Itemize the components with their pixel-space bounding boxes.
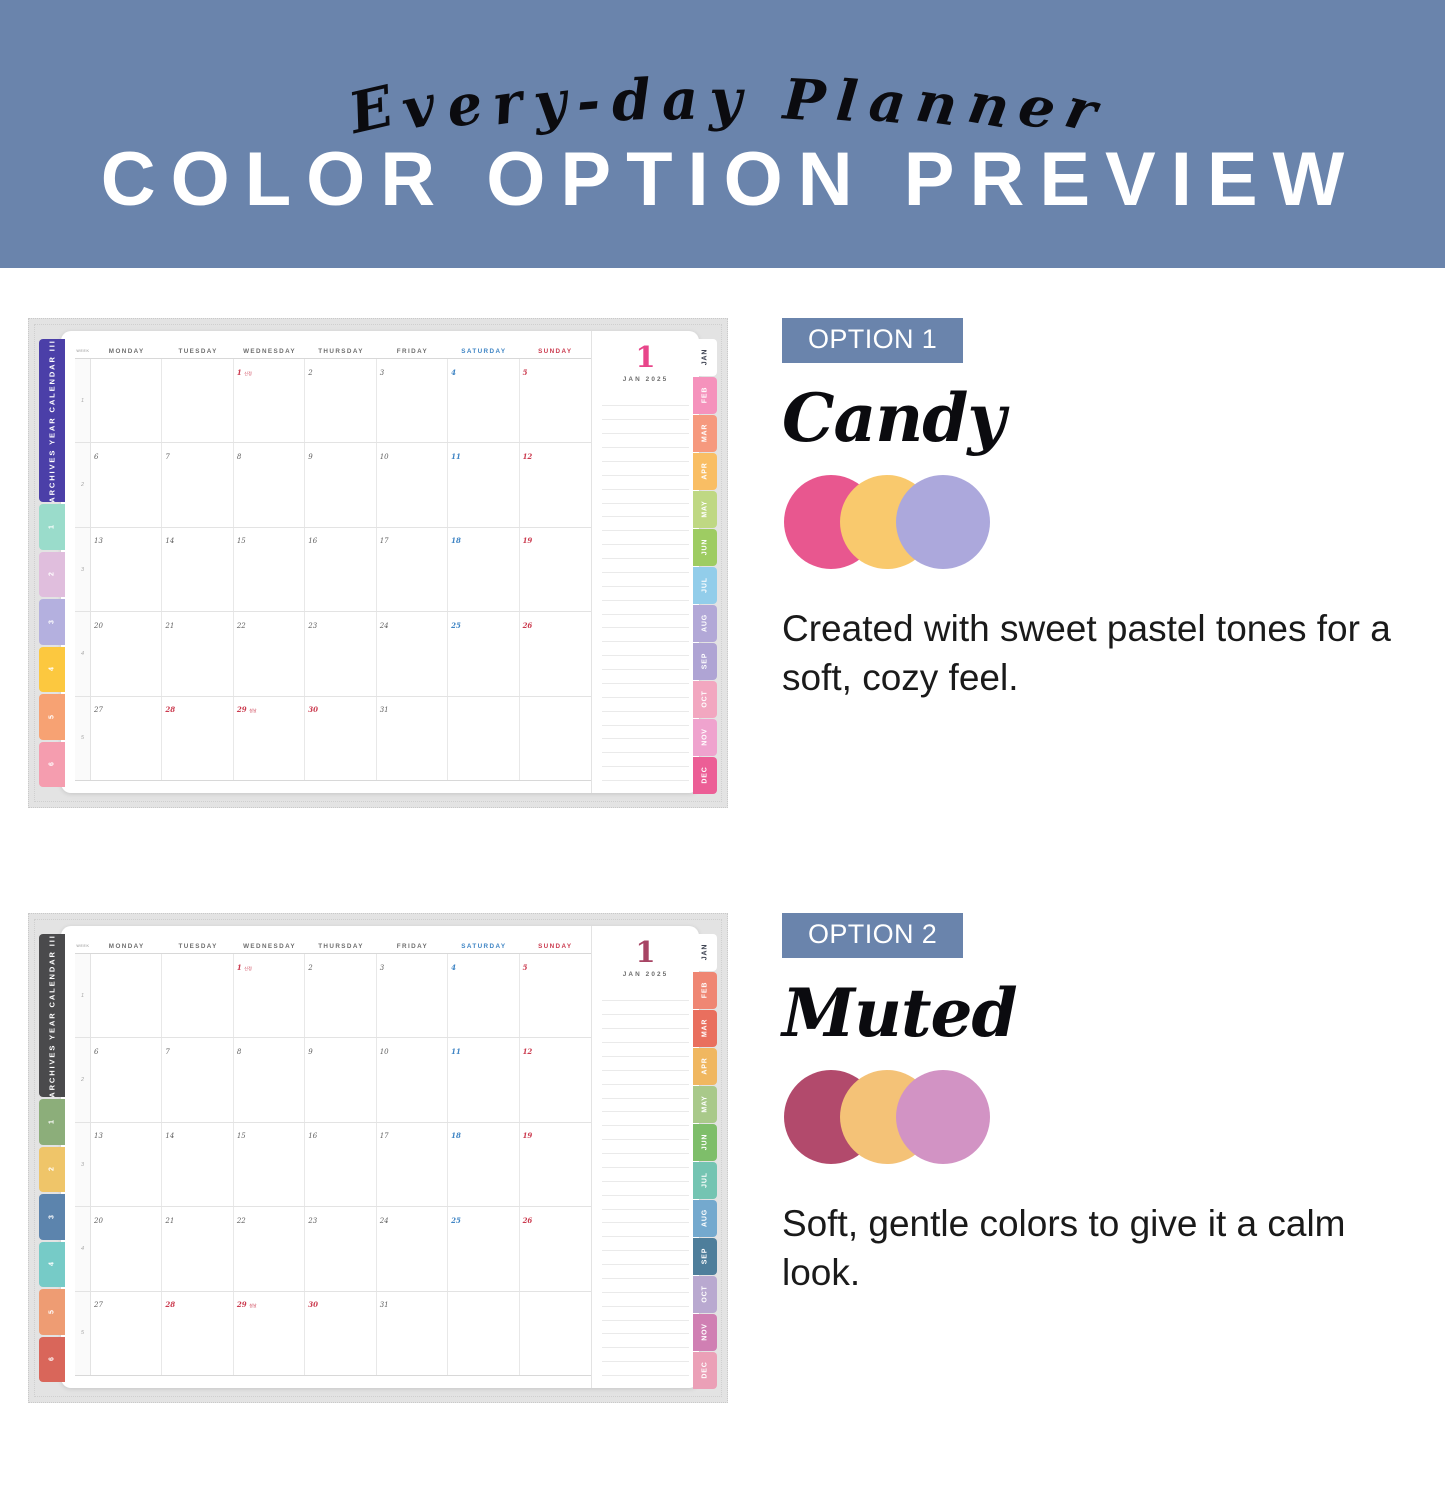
note-line[interactable] [602, 1168, 689, 1182]
script-title-char: a [866, 73, 908, 133]
calendar-day-cell[interactable]: 21 [162, 1207, 233, 1290]
note-line[interactable] [602, 1251, 689, 1265]
left-tab-6[interactable]: 6 [39, 742, 65, 788]
day-number: 5 [523, 963, 528, 972]
script-title-char: l [834, 73, 860, 131]
color-swatches-2 [784, 1070, 1412, 1170]
note-line[interactable] [602, 420, 689, 434]
note-line[interactable] [602, 476, 689, 490]
day-number: 21 [165, 622, 174, 630]
calendar-day-cell[interactable]: 22 [234, 1207, 305, 1290]
calendar-day-cell[interactable]: 24 [377, 1207, 448, 1290]
calendar-day-cell[interactable]: 24 [377, 612, 448, 695]
calendar-day-cell[interactable]: 17 [377, 1123, 448, 1206]
calendar-day-cell[interactable]: 9 [305, 443, 376, 526]
script-title-char: d [610, 72, 652, 130]
day-number: 6 [94, 453, 98, 461]
note-line[interactable] [602, 1210, 689, 1224]
week-number: 4 [75, 1207, 91, 1290]
week-number: 2 [75, 443, 91, 526]
calendar-day-cell[interactable] [520, 1292, 591, 1375]
calendar-day-cell[interactable]: 10 [377, 1038, 448, 1121]
holiday-note: 신정 [244, 966, 252, 971]
month-tab-sep[interactable]: SEP [693, 643, 717, 680]
week-column-label: WEEK [75, 944, 91, 948]
note-line[interactable] [602, 1265, 689, 1279]
calendar-day-cell[interactable]: 26 [520, 1207, 591, 1290]
left-tab-2[interactable]: 2 [39, 1147, 65, 1193]
month-tab-oct[interactable]: OCT [693, 1276, 717, 1313]
week-number: 5 [75, 697, 91, 780]
day-number: 28 [165, 1300, 175, 1309]
calendar-day-cell[interactable]: 6 [91, 1038, 162, 1121]
note-line[interactable] [602, 1001, 689, 1015]
calendar-day-cell[interactable]: 25 [448, 612, 519, 695]
note-line[interactable] [602, 1015, 689, 1029]
note-line[interactable] [602, 1237, 689, 1251]
note-line[interactable] [602, 504, 689, 518]
note-line[interactable] [602, 1334, 689, 1348]
day-number: 15 [237, 537, 246, 545]
calendar-header-row: WEEKMONDAYTUESDAYWEDNESDAYTHURSDAYFRIDAY… [75, 344, 591, 359]
holiday-note: 설날 [249, 708, 257, 713]
left-tab-label: 5 [49, 1310, 56, 1314]
note-line[interactable] [602, 601, 689, 615]
left-tab-4[interactable]: 4 [39, 1242, 65, 1288]
month-tab-label: MAR [702, 424, 709, 442]
note-line[interactable] [602, 1043, 689, 1057]
left-tab-2[interactable]: 2 [39, 552, 65, 598]
month-tab-dec[interactable]: DEC [693, 757, 717, 794]
calendar-day-cell[interactable]: 19 [520, 528, 591, 611]
calendar-day-cell[interactable] [448, 697, 519, 780]
script-title-char: - [575, 73, 603, 131]
option-name: Muted [782, 980, 1412, 1046]
note-line[interactable] [602, 545, 689, 559]
month-tab-aug[interactable]: AUG [693, 1200, 717, 1237]
left-tab-3[interactable]: 3 [39, 599, 65, 645]
color-swatches-1 [784, 475, 1412, 575]
note-line[interactable] [602, 559, 689, 573]
note-line[interactable] [602, 1321, 689, 1335]
calendar-day-cell[interactable]: 25 [448, 1207, 519, 1290]
day-number: 4 [451, 368, 456, 377]
calendar-day-cell[interactable]: 18 [448, 1123, 519, 1206]
calendar-day-cell[interactable]: 15 [234, 1123, 305, 1206]
calendar-day-cell[interactable]: 11 [448, 443, 519, 526]
day-number: 20 [94, 1217, 103, 1225]
calendar-day-cell[interactable] [448, 1292, 519, 1375]
calendar-day-cell[interactable]: 31 [377, 1292, 448, 1375]
note-line[interactable] [602, 1182, 689, 1196]
day-number: 11 [451, 1047, 461, 1056]
month-tab-mar[interactable]: MAR [693, 1010, 717, 1047]
day-number: 3 [380, 964, 384, 972]
day-header-sunday: SUNDAY [520, 348, 591, 355]
day-number: 19 [523, 1131, 533, 1140]
script-title-char: n [913, 73, 961, 134]
left-tab-1[interactable]: 1 [39, 1099, 65, 1145]
note-line[interactable] [602, 656, 689, 670]
day-header-sunday: SUNDAY [520, 943, 591, 950]
day-number: 22 [237, 622, 246, 630]
note-line[interactable] [602, 642, 689, 656]
left-tab-5[interactable]: 5 [39, 1289, 65, 1335]
calendar-day-cell[interactable]: 2 [305, 359, 376, 442]
month-tab-nov[interactable]: NOV [693, 719, 717, 756]
calendar-day-cell[interactable]: 8 [234, 1038, 305, 1121]
month-year-label: JAN 2025 [602, 376, 689, 383]
day-number: 23 [308, 1217, 317, 1225]
note-line[interactable] [602, 1126, 689, 1140]
calendar-day-cell[interactable]: 17 [377, 528, 448, 611]
option-name: Candy [782, 385, 1412, 451]
month-tab-dec[interactable]: DEC [693, 1352, 717, 1389]
calendar-day-cell[interactable]: 26 [520, 612, 591, 695]
left-tab-5[interactable]: 5 [39, 694, 65, 740]
script-title-char: P [782, 71, 827, 129]
month-tab-feb[interactable]: FEB [693, 377, 717, 414]
calendar-day-cell[interactable]: 27 [91, 1292, 162, 1375]
script-title-char: n [964, 75, 1014, 137]
calendar-day-cell[interactable]: 5 [520, 954, 591, 1037]
day-number: 1 [237, 368, 242, 377]
calendar-day-cell[interactable]: 12 [520, 443, 591, 526]
calendar-day-cell[interactable]: 7 [162, 443, 233, 526]
note-line[interactable] [602, 1307, 689, 1321]
note-line[interactable] [602, 462, 689, 476]
note-line[interactable] [602, 1029, 689, 1043]
swatch-circle-3 [896, 475, 990, 569]
month-tab-label: APR [702, 463, 709, 480]
note-line[interactable] [602, 615, 689, 629]
note-line[interactable] [602, 1057, 689, 1071]
left-tab-1[interactable]: 1 [39, 504, 65, 550]
day-number: 18 [451, 1131, 461, 1140]
week-number: 4 [75, 612, 91, 695]
option-block-1: ARCHIVES YEAR CALENDAR III 1 2 3 4 5 6 W… [0, 300, 1445, 900]
calendar-day-cell[interactable]: 4 [448, 954, 519, 1037]
left-tab-label: 3 [49, 620, 56, 624]
month-tab-feb[interactable]: FEB [693, 972, 717, 1009]
calendar-body: 11신정234526789101112313141516171819420212… [75, 954, 591, 1376]
calendar-day-cell[interactable]: 4 [448, 359, 519, 442]
day-number: 25 [451, 1216, 461, 1225]
calendar-day-cell[interactable]: 6 [91, 443, 162, 526]
calendar-day-cell[interactable]: 20 [91, 612, 162, 695]
calendar-day-cell[interactable]: 19 [520, 1123, 591, 1206]
day-number: 26 [523, 621, 533, 630]
calendar-day-cell[interactable]: 3 [377, 954, 448, 1037]
month-tab-label: SEP [702, 1248, 709, 1264]
script-title-char: e [1015, 77, 1061, 139]
month-tab-label: AUG [702, 1209, 709, 1227]
calendar-day-cell[interactable]: 7 [162, 1038, 233, 1121]
calendar-day-cell[interactable]: 2 [305, 954, 376, 1037]
calendar-week-row: 313141516171819 [75, 1123, 591, 1207]
planner-preview-1[interactable]: ARCHIVES YEAR CALENDAR III 1 2 3 4 5 6 W… [28, 318, 728, 808]
calendar-day-cell[interactable]: 31 [377, 697, 448, 780]
note-line[interactable] [602, 712, 689, 726]
day-header-wednesday: WEDNESDAY [234, 943, 305, 950]
note-line[interactable] [602, 448, 689, 462]
calendar-day-cell[interactable]: 1신정 [234, 359, 305, 442]
calendar-day-cell[interactable]: 13 [91, 1123, 162, 1206]
month-tab-jan[interactable]: JAN [693, 934, 717, 971]
calendar-day-cell[interactable]: 13 [91, 528, 162, 611]
day-number: 28 [165, 705, 175, 714]
note-line[interactable] [602, 1348, 689, 1362]
script-title-char [752, 72, 773, 129]
calendar-day-cell[interactable] [91, 359, 162, 442]
note-line[interactable] [602, 490, 689, 504]
month-tab-may[interactable]: MAY [693, 1086, 717, 1123]
month-tab-label: NOV [702, 1323, 709, 1341]
calendar-day-cell[interactable] [91, 954, 162, 1037]
calendar-day-cell[interactable]: 28 [162, 1292, 233, 1375]
notes-column-1: 1 JAN 2025 [591, 331, 699, 793]
calendar-day-cell[interactable] [520, 697, 591, 780]
note-lines[interactable] [602, 988, 689, 1376]
note-line[interactable] [602, 1293, 689, 1307]
left-tab-label: 4 [49, 1262, 56, 1266]
month-tab-nov[interactable]: NOV [693, 1314, 717, 1351]
day-number: 10 [380, 1048, 389, 1056]
calendar-day-cell[interactable]: 14 [162, 528, 233, 611]
month-tab-jan[interactable]: JAN [693, 339, 717, 376]
note-line[interactable] [602, 988, 689, 1002]
calendar-day-cell[interactable]: 20 [91, 1207, 162, 1290]
calendar-day-cell[interactable]: 5 [520, 359, 591, 442]
month-calendar-2: WEEKMONDAYTUESDAYWEDNESDAYTHURSDAYFRIDAY… [61, 926, 591, 1388]
note-line[interactable] [602, 1223, 689, 1237]
note-line[interactable] [602, 698, 689, 712]
planner-page-1: WEEKMONDAYTUESDAYWEDNESDAYTHURSDAYFRIDAY… [61, 331, 699, 793]
week-number: 1 [75, 359, 91, 442]
notes-column-2: 1 JAN 2025 [591, 926, 699, 1388]
month-tab-label: FEB [702, 982, 709, 998]
note-line[interactable] [602, 1085, 689, 1099]
calendar-day-cell[interactable]: 23 [305, 1207, 376, 1290]
month-tab-label: JAN [702, 944, 709, 960]
calendar-day-cell[interactable]: 29설날 [234, 1292, 305, 1375]
day-number: 22 [237, 1217, 246, 1225]
day-number: 27 [94, 1301, 103, 1309]
month-tab-label: DEC [702, 1362, 709, 1379]
calendar-day-cell[interactable]: 27 [91, 697, 162, 780]
calendar-day-cell[interactable]: 30 [305, 1292, 376, 1375]
note-line[interactable] [602, 767, 689, 781]
calendar-day-cell[interactable]: 16 [305, 1123, 376, 1206]
option-badge: OPTION 2 [782, 913, 963, 958]
month-tab-sep[interactable]: SEP [693, 1238, 717, 1275]
calendar-day-cell[interactable]: 14 [162, 1123, 233, 1206]
left-tab-label: 2 [49, 572, 56, 576]
day-number: 10 [380, 453, 389, 461]
left-tab-3[interactable]: 3 [39, 1194, 65, 1240]
month-tab-apr[interactable]: APR [693, 453, 717, 490]
month-tab-jun[interactable]: JUN [693, 529, 717, 566]
month-index-tabs-1[interactable]: JANFEBMARAPRMAYJUNJULAUGSEPOCTNOVDEC [693, 339, 717, 795]
calendar-day-cell[interactable]: 9 [305, 1038, 376, 1121]
left-tab-6[interactable]: 6 [39, 1337, 65, 1383]
month-tab-oct[interactable]: OCT [693, 681, 717, 718]
option-block-2: ARCHIVES YEAR CALENDAR III 1 2 3 4 5 6 W… [0, 895, 1445, 1495]
month-tab-label: JUL [702, 1172, 709, 1188]
day-number: 30 [308, 705, 318, 714]
month-number: 1 [602, 939, 689, 967]
option-description: Soft, gentle colors to give it a calm lo… [782, 1200, 1402, 1298]
note-line[interactable] [602, 406, 689, 420]
calendar-week-row: 420212223242526 [75, 612, 591, 696]
day-number: 8 [237, 453, 241, 461]
month-tab-label: JUL [702, 577, 709, 593]
calendar-day-cell[interactable]: 8 [234, 443, 305, 526]
note-line[interactable] [602, 1279, 689, 1293]
month-tab-label: OCT [702, 1286, 709, 1303]
day-number: 25 [451, 621, 461, 630]
day-header-tuesday: TUESDAY [162, 943, 233, 950]
month-tab-label: AUG [702, 614, 709, 632]
day-number: 16 [308, 537, 317, 545]
calendar-week-row: 5272829설날3031 [75, 1292, 591, 1376]
week-number: 3 [75, 528, 91, 611]
script-title-char: y [709, 72, 742, 128]
left-tab-label: 2 [49, 1167, 56, 1171]
note-lines[interactable] [602, 393, 689, 781]
left-index-tabs-1[interactable]: ARCHIVES YEAR CALENDAR III 1 2 3 4 5 6 [39, 339, 65, 787]
note-line[interactable] [602, 1154, 689, 1168]
week-number: 2 [75, 1038, 91, 1121]
note-line[interactable] [602, 1112, 689, 1126]
day-header-monday: MONDAY [91, 943, 162, 950]
note-line[interactable] [602, 531, 689, 545]
note-line[interactable] [602, 1071, 689, 1085]
tab-archives-1[interactable]: ARCHIVES YEAR CALENDAR III [39, 339, 65, 502]
note-line[interactable] [602, 670, 689, 684]
month-tab-label: JAN [702, 349, 709, 365]
left-tab-4[interactable]: 4 [39, 647, 65, 693]
day-number: 17 [380, 537, 389, 545]
calendar-day-cell[interactable]: 3 [377, 359, 448, 442]
calendar-day-cell[interactable]: 30 [305, 697, 376, 780]
tab-archives-2[interactable]: ARCHIVES YEAR CALENDAR III [39, 934, 65, 1097]
planner-preview-2[interactable]: ARCHIVES YEAR CALENDAR III 1 2 3 4 5 6 W… [28, 913, 728, 1403]
calendar-day-cell[interactable]: 28 [162, 697, 233, 780]
calendar-day-cell[interactable] [162, 954, 233, 1037]
day-header-friday: FRIDAY [377, 348, 448, 355]
day-header-monday: MONDAY [91, 348, 162, 355]
option-description: Created with sweet pastel tones for a so… [782, 605, 1402, 703]
day-number: 18 [451, 536, 461, 545]
left-tab-label: 6 [49, 1357, 56, 1361]
note-line[interactable] [602, 517, 689, 531]
day-header-thursday: THURSDAY [305, 943, 376, 950]
holiday-note: 신정 [244, 371, 252, 376]
day-number: 7 [165, 453, 169, 461]
calendar-day-cell[interactable]: 10 [377, 443, 448, 526]
day-number: 13 [94, 537, 103, 545]
tab-archives-label: ARCHIVES YEAR CALENDAR III [48, 934, 57, 1097]
day-number: 1 [237, 963, 242, 972]
day-header-wednesday: WEDNESDAY [234, 348, 305, 355]
note-line[interactable] [602, 393, 689, 407]
day-number: 24 [380, 1217, 389, 1225]
note-line[interactable] [602, 587, 689, 601]
month-tab-jul[interactable]: JUL [693, 567, 717, 604]
day-number: 23 [308, 622, 317, 630]
day-number: 16 [308, 1132, 317, 1140]
calendar-day-cell[interactable]: 23 [305, 612, 376, 695]
calendar-week-row: 313141516171819 [75, 528, 591, 612]
calendar-day-cell[interactable] [162, 359, 233, 442]
note-line[interactable] [602, 1099, 689, 1113]
note-line[interactable] [602, 1140, 689, 1154]
month-tab-label: MAY [702, 501, 709, 518]
script-title-char: r [1060, 79, 1101, 140]
month-tab-label: MAY [702, 1096, 709, 1113]
day-number: 15 [237, 1132, 246, 1140]
note-line[interactable] [602, 1362, 689, 1376]
calendar-day-cell[interactable]: 12 [520, 1038, 591, 1121]
left-index-tabs-2[interactable]: ARCHIVES YEAR CALENDAR III 1 2 3 4 5 6 [39, 934, 65, 1382]
month-tab-jul[interactable]: JUL [693, 1162, 717, 1199]
calendar-day-cell[interactable]: 15 [234, 528, 305, 611]
note-line[interactable] [602, 573, 689, 587]
day-header-thursday: THURSDAY [305, 348, 376, 355]
calendar-header-row: WEEKMONDAYTUESDAYWEDNESDAYTHURSDAYFRIDAY… [75, 939, 591, 954]
day-number: 13 [94, 1132, 103, 1140]
month-tab-aug[interactable]: AUG [693, 605, 717, 642]
day-number: 2 [308, 369, 312, 377]
left-tab-label: 3 [49, 1215, 56, 1219]
month-tab-jun[interactable]: JUN [693, 1124, 717, 1161]
tab-archives-label: ARCHIVES YEAR CALENDAR III [48, 339, 57, 502]
day-number: 21 [165, 1217, 174, 1225]
note-line[interactable] [602, 628, 689, 642]
calendar-day-cell[interactable]: 22 [234, 612, 305, 695]
calendar-day-cell[interactable]: 16 [305, 528, 376, 611]
script-title-char: r [489, 74, 526, 134]
note-line[interactable] [602, 739, 689, 753]
month-tab-label: JUN [702, 539, 709, 555]
note-line[interactable] [602, 726, 689, 740]
month-index-tabs-2[interactable]: JANFEBMARAPRMAYJUNJULAUGSEPOCTNOVDEC [693, 934, 717, 1390]
calendar-day-cell[interactable]: 11 [448, 1038, 519, 1121]
calendar-week-row: 26789101112 [75, 443, 591, 527]
calendar-day-cell[interactable]: 18 [448, 528, 519, 611]
note-line[interactable] [602, 753, 689, 767]
day-number: 2 [308, 964, 312, 972]
script-title-char: a [661, 72, 699, 129]
option-panel-1: OPTION 1 Candy Created with sweet pastel… [782, 318, 1412, 703]
month-tab-mar[interactable]: MAR [693, 415, 717, 452]
left-tab-label: 6 [49, 762, 56, 766]
day-number: 29 [237, 705, 247, 714]
month-tab-apr[interactable]: APR [693, 1048, 717, 1085]
calendar-day-cell[interactable]: 29설날 [234, 697, 305, 780]
calendar-day-cell[interactable]: 1신정 [234, 954, 305, 1037]
day-number: 27 [94, 706, 103, 714]
month-tab-may[interactable]: MAY [693, 491, 717, 528]
month-tab-label: APR [702, 1058, 709, 1075]
note-line[interactable] [602, 684, 689, 698]
day-number: 31 [380, 1301, 389, 1309]
note-line[interactable] [602, 1196, 689, 1210]
day-number: 6 [94, 1048, 98, 1056]
calendar-day-cell[interactable]: 21 [162, 612, 233, 695]
note-line[interactable] [602, 434, 689, 448]
